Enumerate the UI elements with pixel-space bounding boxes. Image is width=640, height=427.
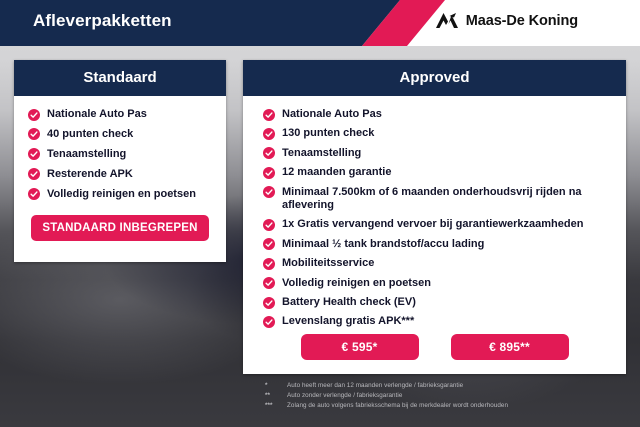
header-bar: Afleverpakketten Maas-De Koning: [0, 0, 640, 46]
check-circle-icon: [263, 186, 275, 198]
price-button-row: € 595* € 895**: [243, 334, 626, 360]
check-circle-icon: [263, 219, 275, 231]
feature-label: Resterende APK: [47, 168, 133, 181]
feature-label: 40 punten check: [47, 128, 133, 141]
list-item: Battery Health check (EV): [263, 296, 612, 309]
footnote-double-asterisk: ** Auto zonder verlengde / fabrieksgaran…: [265, 391, 635, 401]
feature-label: Nationale Auto Pas: [47, 108, 147, 121]
feature-label: Tenaamstelling: [47, 148, 126, 161]
check-circle-icon: [263, 277, 275, 289]
check-circle-icon: [263, 128, 275, 140]
footnote-single-asterisk: * Auto heeft meer dan 12 maanden verleng…: [265, 381, 635, 391]
list-item: Volledig reinigen en poetsen: [263, 277, 612, 290]
feature-label: Battery Health check (EV): [282, 296, 416, 309]
standard-card-body: Nationale Auto Pas 40 punten check Tenaa…: [14, 96, 226, 201]
standard-package-card: Standaard Nationale Auto Pas 40 punten c…: [14, 60, 226, 262]
list-item: Tenaamstelling: [28, 148, 216, 161]
list-item: 1x Gratis vervangend vervoer bij garanti…: [263, 218, 612, 231]
approved-card-body: Nationale Auto Pas 130 punten check Tena…: [243, 96, 626, 329]
page-title: Afleverpakketten: [33, 11, 172, 31]
standaard-inbegrepen-button[interactable]: STANDAARD INBEGREPEN: [31, 215, 209, 241]
brand-lockup: Maas-De Koning: [435, 11, 578, 31]
check-circle-icon: [263, 167, 275, 179]
list-item: Minimaal ½ tank brandstof/accu lading: [263, 238, 612, 251]
list-item: Levenslang gratis APK***: [263, 315, 612, 328]
footnote-text: Auto heeft meer dan 12 maanden verlengde…: [287, 381, 463, 391]
feature-label: Nationale Auto Pas: [282, 108, 382, 121]
approved-feature-list: Nationale Auto Pas 130 punten check Tena…: [243, 108, 626, 329]
list-item: 130 punten check: [263, 127, 612, 140]
standard-feature-list: Nationale Auto Pas 40 punten check Tenaa…: [14, 108, 226, 201]
list-item: Mobiliteitsservice: [263, 257, 612, 270]
check-circle-icon: [263, 109, 275, 121]
list-item: Minimaal 7.500km of 6 maanden onderhouds…: [263, 186, 612, 213]
check-circle-icon: [28, 168, 40, 180]
standard-card-title: Standaard: [14, 60, 226, 96]
footnote-marker: *: [265, 381, 287, 391]
feature-label: 12 maanden garantie: [282, 166, 391, 179]
footnotes-block: * Auto heeft meer dan 12 maanden verleng…: [265, 381, 635, 410]
list-item: Volledig reinigen en poetsen: [28, 188, 216, 201]
list-item: 12 maanden garantie: [263, 166, 612, 179]
price-button-895[interactable]: € 895**: [451, 334, 569, 360]
check-circle-icon: [263, 316, 275, 328]
maas-de-koning-m-logo-icon: [435, 11, 459, 31]
feature-label: 1x Gratis vervangend vervoer bij garanti…: [282, 218, 583, 231]
list-item: Tenaamstelling: [263, 147, 612, 160]
footnote-text: Auto zonder verlengde / fabrieksgarantie: [287, 391, 402, 401]
list-item: Nationale Auto Pas: [263, 108, 612, 121]
approved-card-title: Approved: [243, 60, 626, 96]
price-button-595[interactable]: € 595*: [301, 334, 419, 360]
feature-label: Minimaal 7.500km of 6 maanden onderhouds…: [282, 186, 612, 213]
check-circle-icon: [28, 148, 40, 160]
approved-package-card: Approved Nationale Auto Pas 130 punten c…: [243, 60, 626, 374]
list-item: Nationale Auto Pas: [28, 108, 216, 121]
footnote-triple-asterisk: *** Zolang de auto volgens fabrieksschem…: [265, 401, 635, 411]
feature-label: Levenslang gratis APK***: [282, 315, 414, 328]
check-circle-icon: [263, 147, 275, 159]
feature-label: Volledig reinigen en poetsen: [47, 188, 196, 201]
brand-name: Maas-De Koning: [466, 13, 578, 29]
feature-label: 130 punten check: [282, 127, 374, 140]
footnote-marker: ***: [265, 401, 287, 411]
check-circle-icon: [263, 297, 275, 309]
footnote-text: Zolang de auto volgens fabrieksschema bi…: [287, 401, 508, 411]
feature-label: Tenaamstelling: [282, 147, 361, 160]
feature-label: Volledig reinigen en poetsen: [282, 277, 431, 290]
list-item: Resterende APK: [28, 168, 216, 181]
check-circle-icon: [263, 238, 275, 250]
slide-root: Afleverpakketten Maas-De Koning Standaar…: [0, 0, 640, 427]
footnote-marker: **: [265, 391, 287, 401]
feature-label: Mobiliteitsservice: [282, 257, 374, 270]
list-item: 40 punten check: [28, 128, 216, 141]
check-circle-icon: [263, 258, 275, 270]
check-circle-icon: [28, 128, 40, 140]
check-circle-icon: [28, 109, 40, 121]
feature-label: Minimaal ½ tank brandstof/accu lading: [282, 238, 484, 251]
check-circle-icon: [28, 188, 40, 200]
